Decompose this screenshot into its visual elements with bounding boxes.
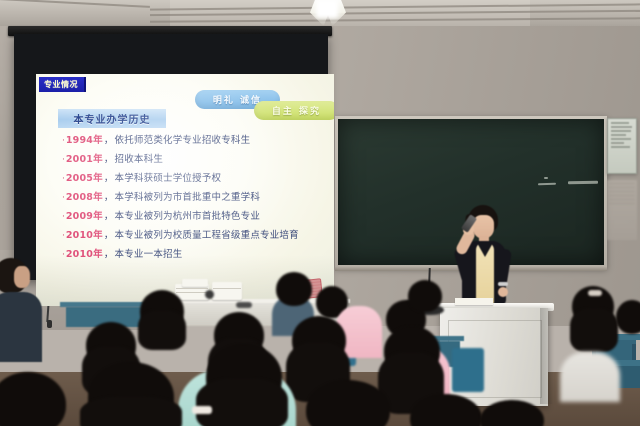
bullet-text: 依托师范类化学专业招收专科生 [115, 136, 251, 146]
bullet-dot: · [62, 213, 65, 222]
bullet-dot: · [62, 232, 65, 241]
bullet-text: 本专业被列为杭州市首批特色专业 [115, 212, 261, 222]
classroom-photo: 专业情况 明礼 诚信 自主 探究 本专业办学历史 · 1994年 ， 依托师范类… [0, 0, 640, 426]
list-item: · 2010年 ， 本专业一本招生 [62, 250, 330, 260]
student-hair [80, 396, 182, 426]
bullet-comma: ， [104, 174, 114, 184]
list-item: · 2008年 ， 本学科被列为市首批重中之重学科 [62, 193, 330, 203]
student-hair [196, 378, 288, 426]
bullet-dot: · [62, 251, 65, 260]
stacked-papers [212, 282, 242, 300]
bullet-text: 本专业一本招生 [115, 250, 183, 260]
slide-bullet-list: · 1994年 ， 依托师范类化学专业招收专科生 · 2001年 ， 招收本科生… [62, 136, 330, 269]
student-head [616, 300, 640, 334]
bullet-text: 本学科获硕士学位授予权 [115, 174, 222, 184]
person-body [0, 292, 42, 362]
bullet-comma: ， [104, 193, 114, 203]
bullet-year: 2010年 [66, 250, 103, 260]
bullet-dot: · [62, 137, 65, 146]
student-head [276, 272, 312, 306]
list-item: · 2009年 ， 本专业被列为杭州市首批特色专业 [62, 212, 330, 222]
stacked-papers [182, 279, 208, 287]
bullet-dot: · [62, 194, 65, 203]
projection-screen: 专业情况 明礼 诚信 自主 探究 本专业办学历史 · 1994年 ， 依托师范类… [14, 34, 328, 280]
podium-shadow [540, 308, 554, 404]
list-item: · 1994年 ， 依托师范类化学专业招收专科生 [62, 136, 330, 146]
list-item: · 2001年 ， 招收本科生 [62, 155, 330, 165]
bullet-year: 2005年 [66, 174, 103, 184]
ceiling-lamp-glow [316, 0, 338, 18]
bullet-year: 2010年 [66, 231, 103, 241]
screen-cord-handle[interactable] [47, 320, 52, 328]
wall-notice-lower [607, 180, 637, 240]
bullet-comma: ， [104, 250, 114, 260]
bullet-year: 2001年 [66, 155, 103, 165]
presenter-left-hand [498, 287, 508, 297]
bullet-text: 本学科被列为市首批重中之重学科 [115, 193, 261, 203]
student-head [408, 280, 442, 312]
desk-object [236, 302, 252, 308]
paper-edge-line [176, 288, 208, 289]
hair-clip [588, 290, 602, 296]
chalk-mark [544, 177, 548, 179]
presenter-wristwatch [498, 282, 508, 286]
bullet-year: 1994年 [66, 136, 103, 146]
slide-badge-green: 自主 探究 [254, 101, 334, 120]
bullet-dot: · [62, 175, 65, 184]
person-face [14, 266, 30, 288]
chalk-mark [568, 181, 598, 185]
slide-title: 本专业办学历史 [58, 109, 166, 128]
student-hair [570, 308, 618, 352]
paper-edge-line [213, 288, 241, 289]
slide-corner-tag: 专业情况 [39, 77, 86, 92]
bullet-dot: · [62, 156, 65, 165]
bullet-comma: ， [104, 212, 114, 222]
list-item: · 2005年 ， 本学科获硕士学位授予权 [62, 174, 330, 184]
student-hair [138, 310, 186, 350]
bullet-text: 招收本科生 [115, 155, 164, 165]
list-item: · 2010年 ， 本专业被列为校质量工程省级重点专业培育 [62, 231, 330, 241]
hair-clip [192, 406, 212, 414]
student-shirt [560, 352, 620, 402]
classroom-chair [452, 348, 484, 392]
desk-object [205, 290, 214, 299]
bullet-year: 2009年 [66, 212, 103, 222]
bullet-comma: ， [104, 136, 114, 146]
bullet-year: 2008年 [66, 193, 103, 203]
wall-notice-poster [607, 118, 637, 174]
bullet-comma: ， [104, 155, 114, 165]
chalk-mark [538, 183, 556, 186]
bullet-text: 本专业被列为校质量工程省级重点专业培育 [115, 231, 299, 241]
paper-edge-line [176, 292, 208, 293]
bullet-comma: ， [104, 231, 114, 241]
podium-papers [455, 298, 493, 305]
presentation-slide: 专业情况 明礼 诚信 自主 探究 本专业办学历史 · 1994年 ， 依托师范类… [36, 74, 334, 306]
